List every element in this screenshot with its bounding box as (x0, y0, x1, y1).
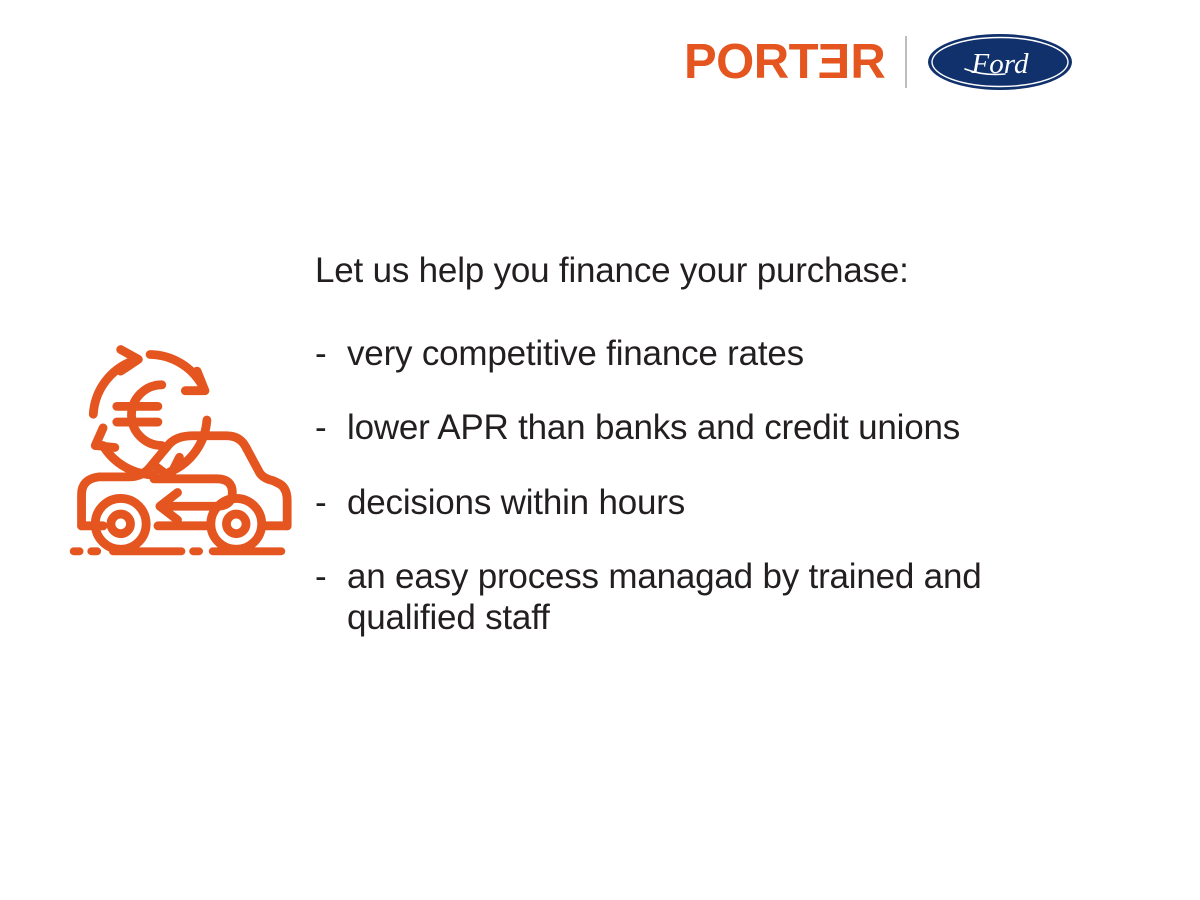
list-item: - lower APR than banks and credit unions (315, 408, 1105, 449)
list-item: - decisions within hours (315, 483, 1105, 524)
list-item-label: an easy process managad by trained and q… (347, 557, 1105, 638)
bullet-dash-marker: - (315, 408, 347, 449)
list-item: - very competitive finance rates (315, 334, 1105, 375)
page-title: Let us help you finance your purchase: (315, 252, 1105, 291)
porter-mirrored-e-glyph: E (818, 38, 850, 87)
finance-slide: PORTER Ford (0, 0, 1200, 900)
finance-icon-graphic (60, 330, 295, 565)
brand-logo-lockup: PORTER Ford (684, 33, 1073, 91)
list-item-label: decisions within hours (347, 483, 1105, 524)
car-euro-finance-icon (60, 330, 295, 565)
porter-text-after: R (850, 38, 885, 87)
porter-wordmark: PORTER (684, 38, 885, 87)
euro-symbol-icon (117, 385, 162, 446)
circular-refresh-arrows-icon (93, 350, 207, 477)
bullet-dash-marker: - (315, 557, 347, 598)
benefits-list: - very competitive finance rates - lower… (315, 334, 1105, 639)
ford-oval-logo: Ford (927, 33, 1073, 91)
porter-text-before: PORT (684, 38, 818, 87)
bullet-dash-marker: - (315, 483, 347, 524)
list-item-label: very competitive finance rates (347, 334, 1105, 375)
bullet-dash-marker: - (315, 334, 347, 375)
list-item-label: lower APR than banks and credit unions (347, 408, 1105, 449)
logo-divider (905, 36, 907, 88)
list-item: - an easy process managad by trained and… (315, 557, 1105, 638)
ford-wordmark-text: Ford (971, 48, 1029, 80)
slide-content: Let us help you finance your purchase: -… (315, 252, 1105, 638)
